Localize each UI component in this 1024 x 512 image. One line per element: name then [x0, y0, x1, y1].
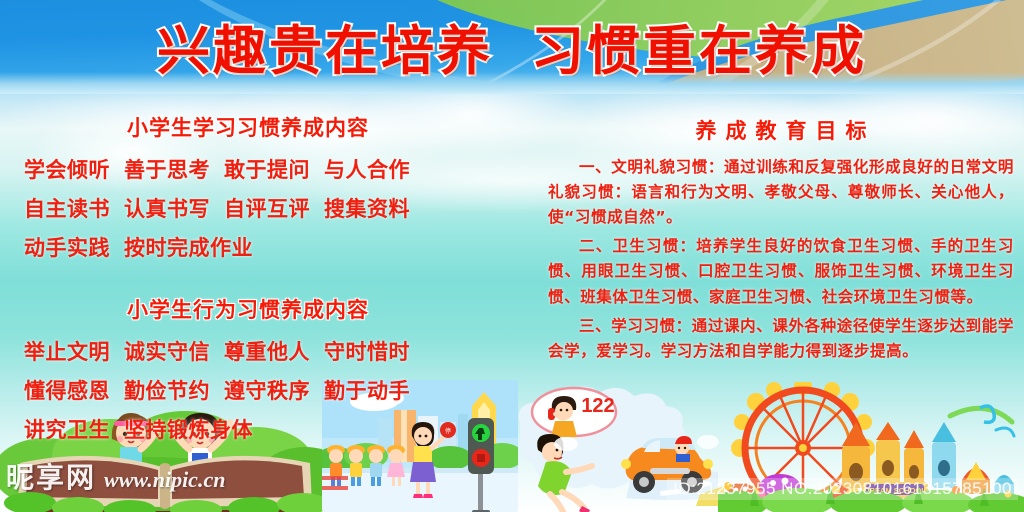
goal-paragraph-1: 一、文明礼貌习惯：通过训练和反复强化形成良好的日常文明礼貌习惯：语言和行为文明、…	[548, 155, 1014, 230]
behavior-habits-row: 懂得感恩 勤俭节约 遵守秩序 勤于动手	[24, 375, 478, 405]
goal-paragraph-3: 三、学习习惯：通过课内、课外各种途径使学生逐步达到能学会学，爱学习。学习方法和自…	[548, 314, 1014, 364]
title-phrase-right: 习惯重在养成	[531, 9, 867, 85]
habit-item: 善于思考	[124, 154, 210, 184]
habit-item: 诚实守信	[124, 336, 210, 366]
watermark-id: ID:21237955 NO:20230810161315785100	[667, 478, 1018, 500]
education-goals-heading: 养成教育目标	[548, 115, 1014, 145]
habit-item: 勤俭节约	[124, 375, 210, 405]
habit-item: 动手实践	[24, 232, 110, 262]
poster-title: 兴趣贵在培养 习惯重在养成	[0, 0, 1024, 94]
watermark-site-name: 昵享网	[6, 456, 96, 496]
habit-item: 认真书写	[124, 193, 210, 223]
habit-item: 讲究卫生	[24, 414, 110, 444]
habit-item: 学会倾听	[24, 154, 110, 184]
title-phrase-left: 兴趣贵在培养	[157, 9, 493, 85]
watermark-nipic: 昵享网 www.nipic.cn	[6, 456, 225, 496]
study-habits-row: 动手实践 按时完成作业	[24, 232, 478, 262]
study-habits-heading: 小学生学习习惯养成内容	[18, 112, 478, 142]
study-habits-row: 自主读书 认真书写 自评互评 搜集资料	[24, 193, 478, 223]
habit-item: 敢于提问	[224, 154, 310, 184]
habit-item: 坚持锻炼身体	[124, 414, 253, 444]
habit-item: 尊重他人	[224, 336, 310, 366]
behavior-habits-heading: 小学生行为习惯养成内容	[18, 294, 478, 324]
right-content-column: 养成教育目标 一、文明礼貌习惯：通过训练和反复强化形成良好的日常文明礼貌习惯：语…	[548, 115, 1014, 368]
left-content-column: 小学生学习习惯养成内容 学会倾听 善于思考 敢于提问 与人合作 自主读书 认真书…	[18, 112, 478, 453]
study-habits-row: 学会倾听 善于思考 敢于提问 与人合作	[24, 154, 478, 184]
behavior-habits-row: 举止文明 诚实守信 尊重他人 守时惜时	[24, 336, 478, 366]
goal-paragraph-2: 二、卫生习惯：培养学生良好的饮食卫生习惯、手的卫生习惯、用眼卫生习惯、口腔卫生习…	[548, 234, 1014, 309]
habit-item: 守时惜时	[324, 336, 410, 366]
emergency-number-text: 122	[581, 395, 614, 417]
habit-item: 自主读书	[24, 193, 110, 223]
habit-item: 自评互评	[224, 193, 310, 223]
habit-item: 勤于动手	[324, 375, 410, 405]
habit-item: 搜集资料	[324, 193, 410, 223]
behavior-habits-row: 讲究卫生 坚持锻炼身体	[24, 414, 478, 444]
watermark-site-url: www.nipic.cn	[104, 467, 225, 493]
poster-canvas: 兴趣贵在培养 习惯重在养成 小学生学习习惯养成内容 学会倾听 善于思考 敢于提问…	[0, 0, 1024, 512]
habit-item: 举止文明	[24, 336, 110, 366]
habit-item: 按时完成作业	[124, 232, 253, 262]
habit-item: 遵守秩序	[224, 375, 310, 405]
habit-item: 与人合作	[324, 154, 410, 184]
habit-item: 懂得感恩	[24, 375, 110, 405]
